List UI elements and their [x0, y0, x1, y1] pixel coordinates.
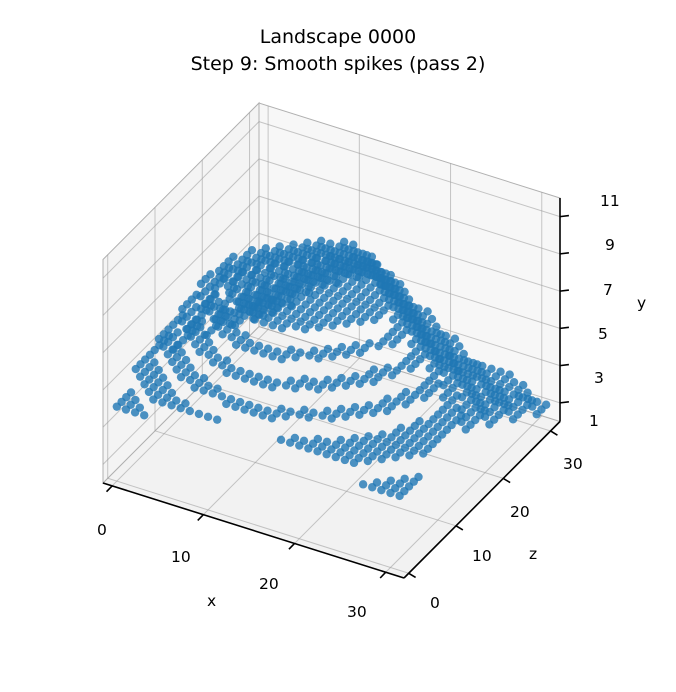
z-tick-label: 0: [430, 594, 440, 612]
z-tick-label: 10: [472, 547, 492, 565]
y-tick-label: 9: [605, 236, 615, 254]
y-tick-label: 7: [603, 281, 613, 299]
x-tick-label: 0: [97, 521, 107, 539]
y-axis-label: y: [637, 294, 646, 312]
axes3d-canvas: [0, 0, 676, 692]
z-axis-label: z: [529, 545, 537, 563]
y-tick-label: 3: [594, 369, 604, 387]
y-tick-label: 5: [598, 325, 608, 343]
y-tick-label: 1: [589, 412, 599, 430]
x-tick-label: 10: [171, 548, 191, 566]
matplotlib-figure: Landscape 0000Step 9: Smooth spikes (pas…: [0, 0, 676, 692]
x-tick-label: 30: [347, 603, 367, 621]
z-tick-label: 20: [510, 503, 530, 521]
x-tick-label: 20: [259, 575, 279, 593]
y-tick-label: 11: [600, 192, 620, 210]
z-tick-label: 30: [563, 455, 583, 473]
x-axis-label: x: [207, 592, 216, 610]
